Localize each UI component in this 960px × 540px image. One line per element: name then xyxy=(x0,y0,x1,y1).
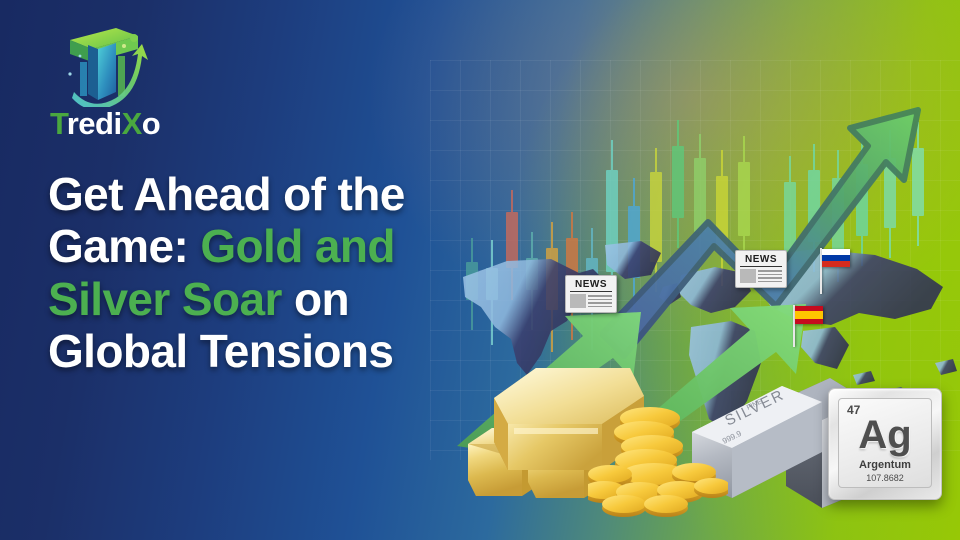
news-icon: NEWS xyxy=(735,250,787,288)
headline-line-1: Get Ahead of the xyxy=(48,168,405,220)
brand-name-part-3: X xyxy=(122,106,142,141)
headline-line-4: Global Tensions xyxy=(48,325,393,377)
element-name: Argentum xyxy=(839,459,931,471)
brand-name-part-2: redi xyxy=(67,106,122,141)
silver-element-card: 47 Ag Argentum 107.8682 xyxy=(828,388,942,500)
silver-element-card-inner: 47 Ag Argentum 107.8682 xyxy=(838,398,932,488)
news-icon: NEWS xyxy=(565,275,617,313)
news-icon-thumbnail xyxy=(740,269,756,283)
brand-logo[interactable]: TrediXo xyxy=(48,22,188,137)
gold-coins xyxy=(588,398,728,518)
news-icon-lines xyxy=(588,294,612,308)
news-icon-body xyxy=(566,294,616,308)
marketing-banner: TrediXo Get Ahead of the Game: Gold and … xyxy=(0,0,960,540)
news-icon-label: NEWS xyxy=(570,276,612,292)
atomic-mass: 107.8682 xyxy=(839,473,931,483)
russia-flag xyxy=(822,249,850,267)
brand-name: TrediXo xyxy=(50,108,200,139)
brand-name-part-4: o xyxy=(142,106,160,141)
headline-line-3-green: Silver Soar xyxy=(48,273,282,325)
headline-line-3-white: on xyxy=(282,273,349,325)
brand-name-part-1: T xyxy=(50,106,67,141)
news-icon-thumbnail xyxy=(570,294,586,308)
page-title: Get Ahead of the Game: Gold and Silver S… xyxy=(48,168,478,378)
news-icon-label: NEWS xyxy=(740,251,782,267)
headline-line-2-white: Game: xyxy=(48,220,200,272)
element-symbol: Ag xyxy=(839,415,931,455)
news-icon-body xyxy=(736,269,786,283)
trediXo-logo-icon xyxy=(58,22,150,107)
news-icon-lines xyxy=(758,269,782,283)
spain-flag xyxy=(795,306,823,324)
headline-line-2-green: Gold and xyxy=(200,220,395,272)
